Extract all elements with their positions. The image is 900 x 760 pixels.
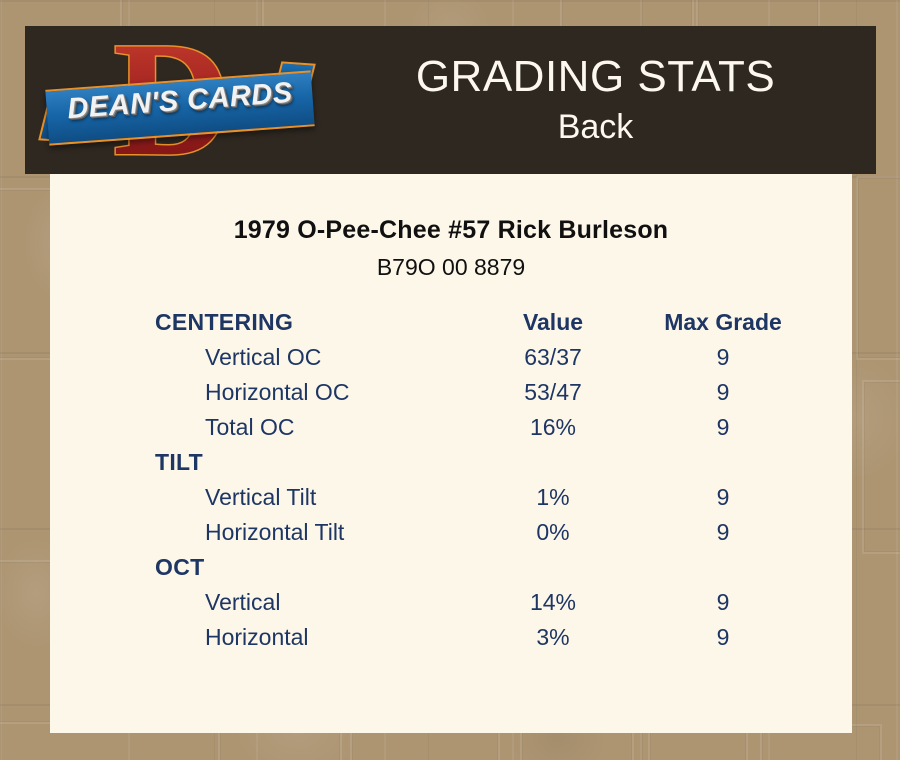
header-title-block: GRADING STATS Back — [315, 26, 876, 174]
stats-row-label: Horizontal — [205, 620, 309, 655]
stats-row-max-grade: 9 — [623, 340, 823, 375]
stats-data-row: Total OC16%9 — [50, 410, 852, 445]
card-title: 1979 O-Pee-Chee #57 Rick Burleson — [50, 216, 852, 245]
stats-section-label: TILT — [155, 445, 203, 480]
stats-data-row: Vertical14%9 — [50, 585, 852, 620]
stats-row-max-grade: 9 — [623, 480, 823, 515]
stats-row-label: Total OC — [205, 410, 294, 445]
stats-data-row: Horizontal OC53/479 — [50, 375, 852, 410]
stats-column-header-max-grade: Max Grade — [623, 305, 823, 340]
stats-section-row: OCT — [50, 550, 852, 585]
card-id: B79O 00 8879 — [50, 254, 852, 281]
stats-data-row: Horizontal Tilt0%9 — [50, 515, 852, 550]
stats-row-max-grade: 9 — [623, 410, 823, 445]
stats-data-row: Horizontal3%9 — [50, 620, 852, 655]
content-panel: 1979 O-Pee-Chee #57 Rick Burleson B79O 0… — [50, 174, 852, 733]
stats-row-max-grade: 9 — [623, 515, 823, 550]
stats-section-row: CENTERINGValueMax Grade — [50, 305, 852, 340]
stats-row-label: Vertical Tilt — [205, 480, 316, 515]
stats-section-label: OCT — [155, 550, 204, 585]
deans-cards-logo[interactable]: D D DEAN'S CARDS — [45, 32, 315, 172]
stats-row-label: Horizontal Tilt — [205, 515, 344, 550]
stats-row-max-grade: 9 — [623, 585, 823, 620]
page-root: D D DEAN'S CARDS GRADING STATS Back 1979… — [0, 0, 900, 760]
stats-row-max-grade: 9 — [623, 375, 823, 410]
stats-row-max-grade: 9 — [623, 620, 823, 655]
page-title: GRADING STATS — [416, 51, 775, 103]
page-subtitle: Back — [558, 105, 634, 149]
stats-section-label: CENTERING — [155, 305, 293, 340]
stats-section-row: TILT — [50, 445, 852, 480]
stats-data-row: Vertical OC63/379 — [50, 340, 852, 375]
stats-row-label: Vertical OC — [205, 340, 321, 375]
stats-row-label: Vertical — [205, 585, 280, 620]
header-bar: D D DEAN'S CARDS GRADING STATS Back — [25, 26, 876, 174]
grading-stats-table: CENTERINGValueMax GradeVertical OC63/379… — [50, 305, 852, 655]
stats-row-label: Horizontal OC — [205, 375, 349, 410]
stats-data-row: Vertical Tilt1%9 — [50, 480, 852, 515]
